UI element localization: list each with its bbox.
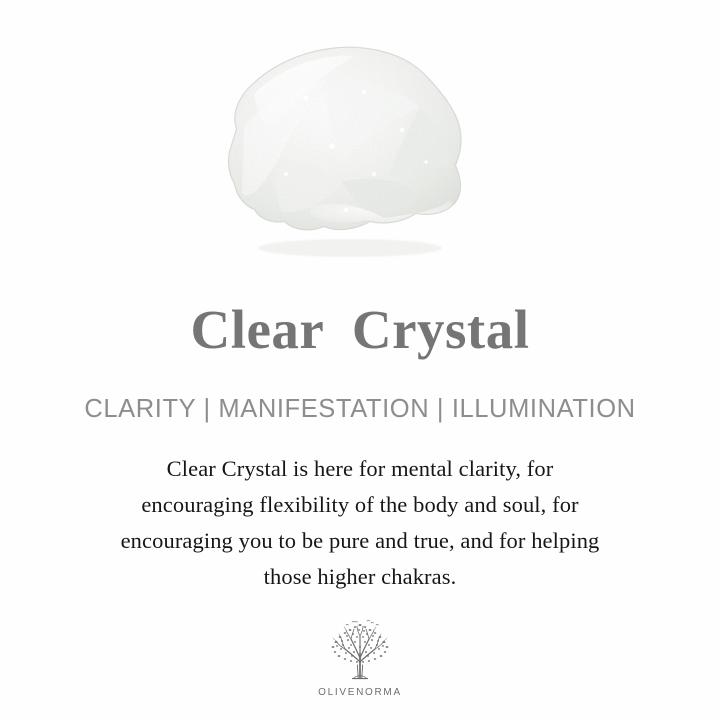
olive-tree-icon [324, 618, 396, 684]
description-line: encouraging you to be pure and true, and… [50, 523, 670, 559]
brand-name: OLIVENORMA [318, 687, 402, 698]
crystal-image-container [0, 0, 720, 280]
product-info-card: Clear Crystal CLARITY | MANIFESTATION | … [0, 0, 720, 720]
clear-crystal-image [214, 34, 476, 262]
product-keywords: CLARITY | MANIFESTATION | ILLUMINATION [0, 394, 720, 424]
product-description: Clear Crystal is here for mental clarity… [50, 451, 670, 595]
description-line: those higher chakras. [50, 559, 670, 595]
description-line: encouraging flexibility of the body and … [50, 487, 670, 523]
brand-logo: OLIVENORMA [0, 618, 720, 698]
description-line: Clear Crystal is here for mental clarity… [50, 451, 670, 487]
product-title: Clear Crystal [0, 299, 720, 361]
